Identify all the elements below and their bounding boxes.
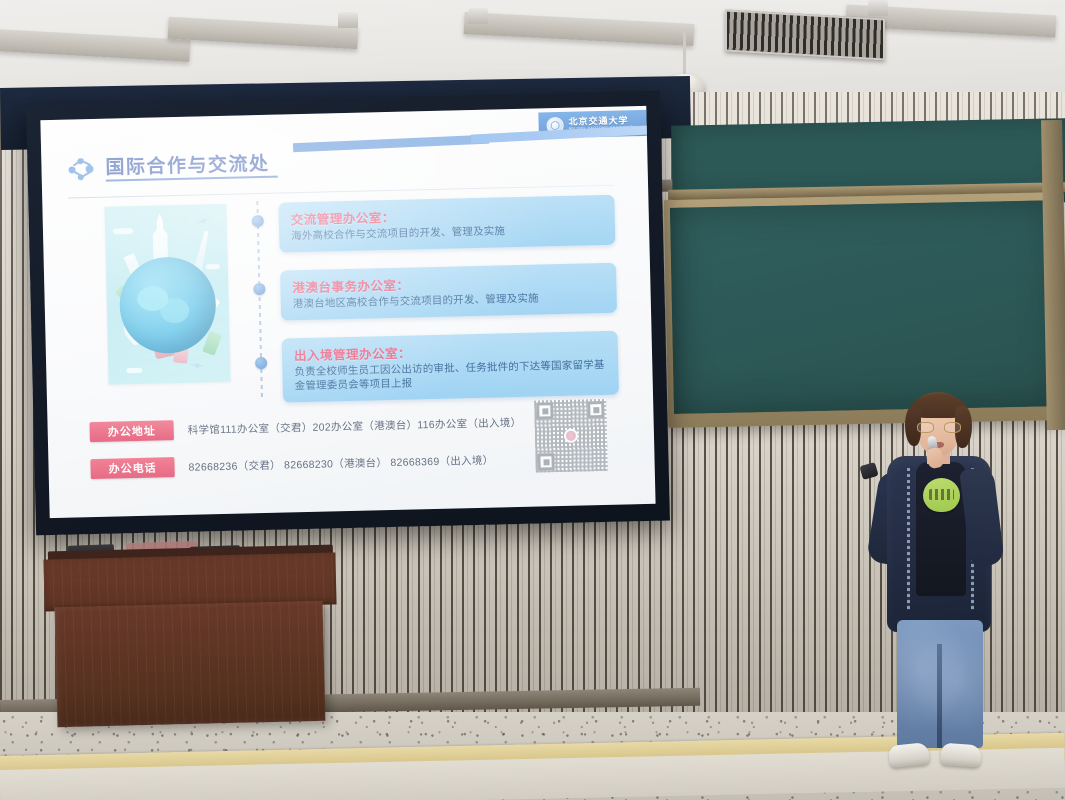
- globe-landmarks-illustration: [104, 204, 230, 385]
- content-card[interactable]: 港澳台事务办公室： 港澳台地区高校合作与交流项目的开发、管理及实施: [280, 263, 617, 321]
- projection-screen[interactable]: 北京交通大学 BEIJING JIAOTONG UNIVERSITY: [26, 91, 670, 536]
- qr-finder-icon: [536, 402, 553, 419]
- jeans-inseam: [937, 644, 942, 748]
- qr-finder-icon: [537, 453, 554, 470]
- qr-center-logo-icon: [564, 429, 578, 443]
- airplane-icon: [194, 216, 211, 227]
- ceiling-air-vent: [725, 10, 885, 61]
- presentation-slide[interactable]: 北京交通大学 BEIJING JIAOTONG UNIVERSITY: [40, 106, 655, 518]
- presenter: [845, 392, 1030, 792]
- contact-label-phone: 办公电话: [90, 457, 174, 479]
- cloud-icon: [126, 368, 142, 373]
- content-card[interactable]: 出入境管理办公室： 负责全校师生员工因公出访的审批、任务批件的下达等国家留学基金…: [282, 331, 619, 403]
- timeline-dot: [255, 357, 267, 369]
- qr-code[interactable]: [534, 399, 608, 473]
- classroom-scene: 北京交通大学 BEIJING JIAOTONG UNIVERSITY: [0, 0, 1065, 800]
- contact-label-address: 办公地址: [89, 420, 173, 442]
- shirt-graphic: [923, 478, 960, 512]
- jacket-zip-left: [907, 468, 910, 610]
- cloud-icon: [206, 264, 220, 269]
- cloud-icon: [113, 228, 133, 234]
- page-title: 国际合作与交流处: [105, 149, 270, 180]
- presenter-shoe-left: [888, 742, 930, 768]
- chalkboard-surface: [670, 200, 1060, 414]
- pendant-light-rod: [683, 28, 686, 80]
- airplane-icon: [188, 361, 205, 370]
- timeline-dot: [252, 215, 264, 227]
- timeline-dot: [253, 283, 265, 295]
- glasses-icon: [917, 422, 961, 433]
- ceiling-light-mount: [338, 12, 358, 28]
- lectern-body: [55, 601, 326, 728]
- globe-icon: [119, 256, 217, 354]
- slide-title-row: 国际合作与交流处: [67, 141, 613, 188]
- contact-value-phone: 82668236（交君） 82668230（港澳台） 82668369（出入境）: [188, 451, 548, 474]
- content-card[interactable]: 交流管理办公室： 海外高校合作与交流项目的开发、管理及实施: [278, 195, 615, 253]
- contact-value-address: 科学馆111办公室（交君）202办公室（港澳台）116办公室（出入境）: [188, 414, 548, 437]
- lectern[interactable]: [40, 548, 340, 723]
- content-card-body: 负责全校师生员工因公出访的审批、任务批件的下达等国家留学基金管理委员会等项目上报: [294, 359, 609, 394]
- lectern-wood-grain: [55, 601, 326, 728]
- network-nodes-icon: [67, 156, 98, 185]
- presentation-clicker[interactable]: [859, 462, 878, 480]
- presenter-shoe-right: [940, 743, 981, 768]
- qr-finder-icon: [587, 401, 604, 418]
- ceiling-light-mount: [468, 8, 488, 24]
- ceiling-light-mount: [868, 0, 888, 16]
